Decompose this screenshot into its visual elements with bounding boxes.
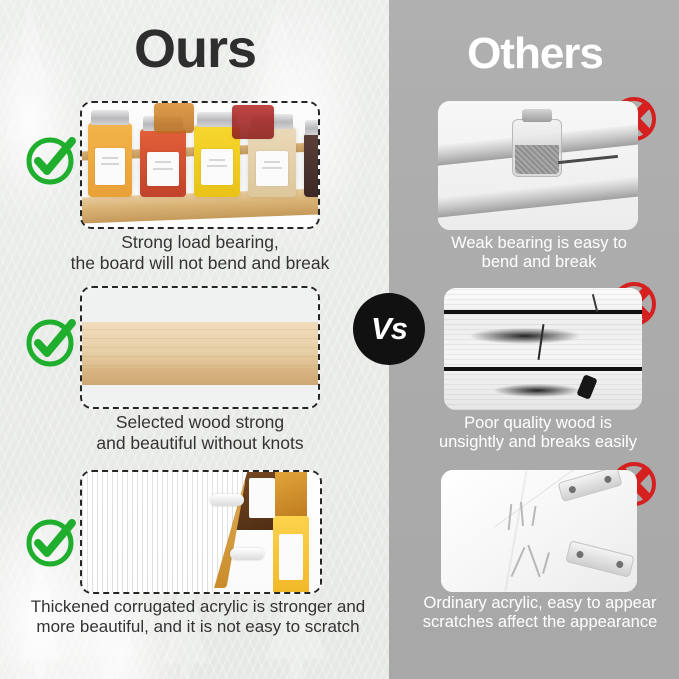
others-column-title: Others — [400, 32, 670, 76]
others-acrylic-caption: Ordinary acrylic, easy to appear scratch… — [410, 594, 670, 633]
ours-column-title: Ours — [60, 22, 330, 76]
comparison-infographic: Ours Others — [0, 0, 679, 679]
others-load-bearing-caption: Weak bearing is easy to bend and break — [430, 234, 648, 273]
others-acrylic-image — [441, 470, 637, 592]
ours-wood-quality-caption: Selected wood strong and beautiful witho… — [60, 412, 340, 453]
others-load-bearing-image — [438, 101, 638, 230]
ours-load-bearing-image — [80, 101, 320, 229]
green-check-circle-icon — [24, 515, 78, 574]
ours-wood-quality-image — [80, 286, 320, 409]
vs-badge-icon: Vs — [353, 293, 425, 365]
ours-acrylic-image — [80, 470, 322, 594]
others-wood-quality-image — [444, 288, 642, 410]
green-check-circle-icon — [24, 315, 78, 374]
others-wood-quality-caption: Poor quality wood is unsightly and break… — [404, 414, 672, 453]
ours-acrylic-caption: Thickened corrugated acrylic is stronger… — [22, 597, 374, 637]
green-check-circle-icon — [24, 133, 78, 192]
ours-load-bearing-caption: Strong load bearing, the board will not … — [44, 232, 356, 273]
vs-badge-label: Vs — [371, 311, 407, 347]
